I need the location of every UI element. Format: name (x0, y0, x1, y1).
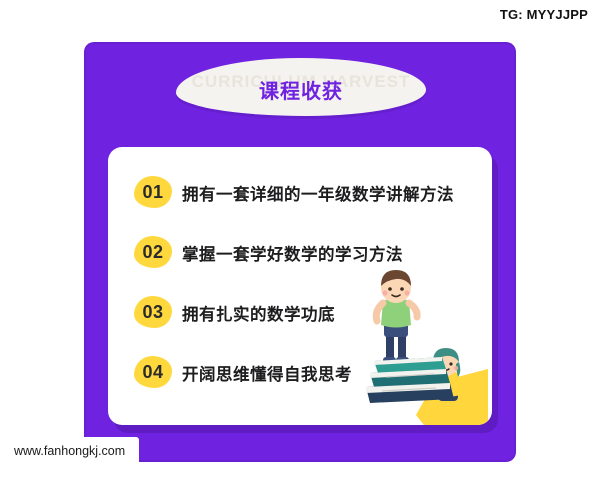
number-badge: 03 (134, 296, 172, 330)
badge-number: 04 (134, 356, 172, 388)
number-badge: 04 (134, 356, 172, 390)
page-title: 课程收获 (176, 75, 426, 104)
list-item-label: 掌握一套学好数学的学习方法 (182, 241, 403, 265)
list-item-label: 开阔思维懂得自我思考 (182, 361, 352, 385)
number-badge: 01 (134, 176, 172, 210)
list-item-label: 拥有扎实的数学功底 (182, 301, 335, 325)
content-panel: 01 拥有一套详细的一年级数学讲解方法 02 掌握一套学好数学的学习方法 03 … (108, 147, 492, 425)
badge-number: 03 (134, 296, 172, 328)
purple-card: CURRICULUM HARVEST 课程收获 01 拥有一套详细的一年级数学讲… (84, 42, 516, 462)
title-blob: CURRICULUM HARVEST 课程收获 (176, 58, 426, 116)
list-item-label: 拥有一套详细的一年级数学讲解方法 (182, 181, 454, 205)
number-badge: 02 (134, 236, 172, 270)
kids-on-books-illustration (338, 265, 488, 425)
website-url-tab: www.fanhongkj.com (0, 437, 139, 465)
telegram-watermark-badge: TG: MYYJJPP (486, 0, 600, 30)
list-item: 01 拥有一套详细的一年级数学讲解方法 (134, 173, 470, 213)
badge-number: 01 (134, 176, 172, 208)
badge-number: 02 (134, 236, 172, 268)
